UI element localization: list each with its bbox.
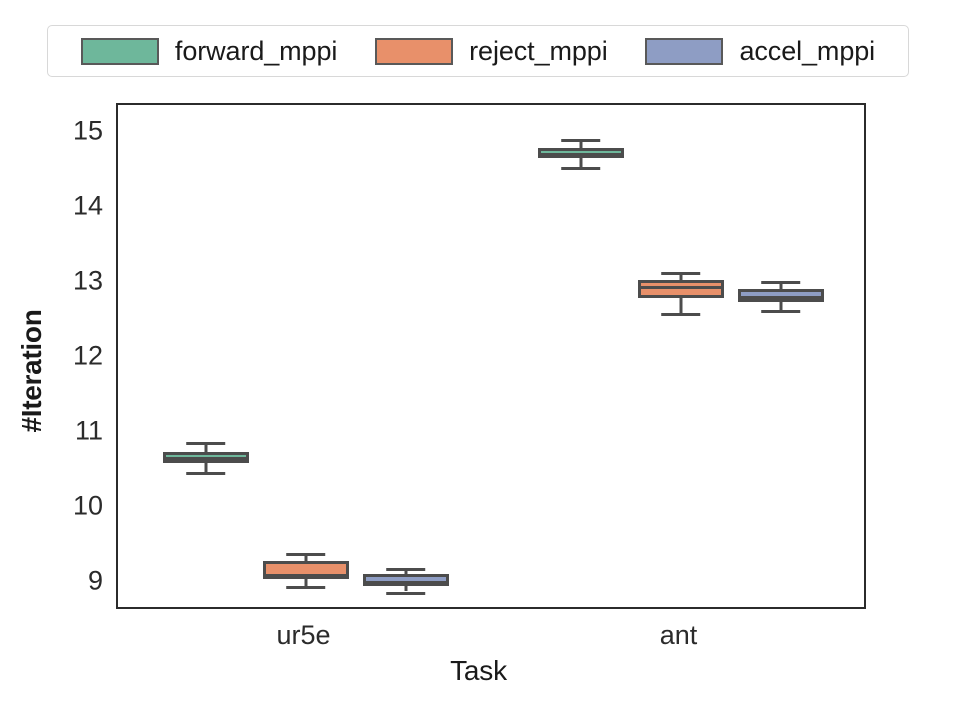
x-axis-label: Task bbox=[0, 655, 957, 687]
median-line bbox=[363, 581, 449, 584]
median-line bbox=[263, 574, 349, 577]
x-tick-ur5e: ur5e bbox=[276, 620, 330, 651]
median-line bbox=[638, 286, 724, 289]
x-tick-ant: ant bbox=[660, 620, 698, 651]
median-line bbox=[538, 153, 624, 156]
median-line bbox=[163, 457, 249, 460]
x-axis-tick-labels: ur5eant bbox=[0, 0, 957, 718]
median-line bbox=[738, 296, 824, 299]
chart-figure: forward_mppireject_mppiaccel_mppi 910111… bbox=[0, 0, 957, 718]
